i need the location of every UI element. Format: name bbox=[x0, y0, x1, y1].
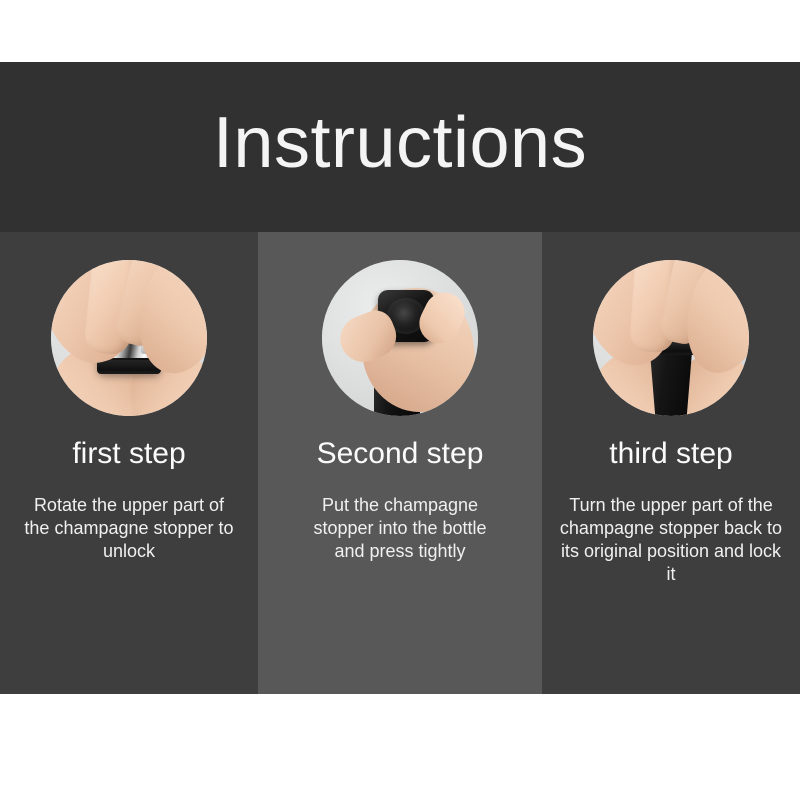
step-panel-2: Second step Put the champagne stopper in… bbox=[258, 232, 542, 694]
step-2-description: Put the champagne stopper into the bottl… bbox=[297, 494, 503, 563]
step-1-title: first step bbox=[72, 438, 185, 470]
step-2-image bbox=[322, 260, 478, 416]
step-3-image bbox=[593, 260, 749, 416]
instructions-poster: Instructions first step Rotate the upper… bbox=[0, 62, 800, 694]
step-3-description: Turn the upper part of the champagne sto… bbox=[557, 494, 785, 586]
stopper-seal-shape bbox=[395, 306, 417, 326]
step-2-title: Second step bbox=[317, 438, 484, 470]
step-1-description: Rotate the upper part of the champagne s… bbox=[23, 494, 235, 563]
step-panel-3: third step Turn the upper part of the ch… bbox=[542, 232, 800, 694]
step-panel-1: first step Rotate the upper part of the … bbox=[0, 232, 258, 694]
step-3-title: third step bbox=[609, 438, 732, 470]
steps-strip: first step Rotate the upper part of the … bbox=[0, 232, 800, 694]
header-band: Instructions bbox=[0, 62, 800, 232]
step-1-image bbox=[51, 260, 207, 416]
page-title: Instructions bbox=[213, 107, 587, 187]
